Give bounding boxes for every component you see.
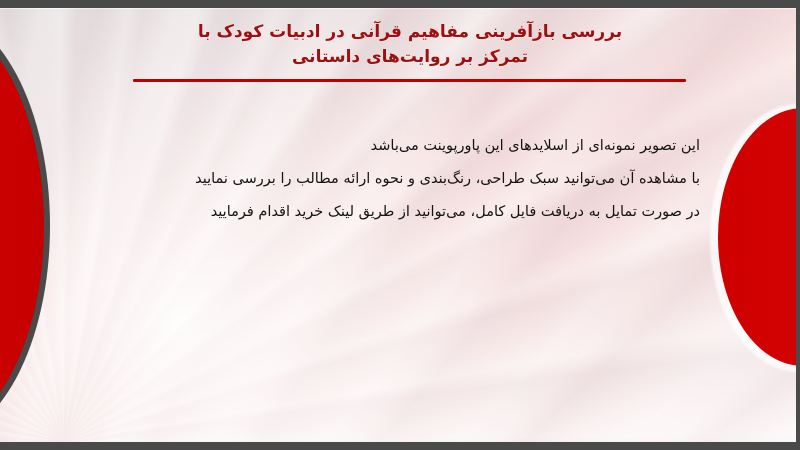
slide-title-line-1: بررسی بازآفرینی مفاهیم قرآنی در ادبیات ک… (120, 20, 700, 45)
body-line-1: این تصویر نمونه‌ای از اسلایدهای این پاور… (80, 130, 700, 163)
slide-title-line-2: تمرکز بر روایت‌های داستانی (120, 45, 700, 70)
slide-frame-top-edge (0, 0, 800, 8)
slide-title: بررسی بازآفرینی مفاهیم قرآنی در ادبیات ک… (120, 20, 700, 70)
presentation-slide: بررسی بازآفرینی مفاهیم قرآنی در ادبیات ک… (0, 0, 800, 450)
title-divider-rule (133, 79, 686, 82)
slide-frame-bottom-edge (0, 442, 800, 450)
red-oval-right-decoration (718, 108, 800, 366)
slide-frame-right-edge (796, 0, 800, 450)
slide-content-panel: بررسی بازآفرینی مفاهیم قرآنی در ادبیات ک… (0, 8, 800, 442)
red-oval-left-decoration (0, 16, 44, 436)
body-line-3: در صورت تمایل به دریافت فایل کامل، می‌تو… (80, 196, 700, 229)
slide-body-text: این تصویر نمونه‌ای از اسلایدهای این پاور… (80, 130, 700, 229)
body-line-2: با مشاهده آن می‌توانید سبک طراحی، رنگ‌بن… (80, 163, 700, 196)
